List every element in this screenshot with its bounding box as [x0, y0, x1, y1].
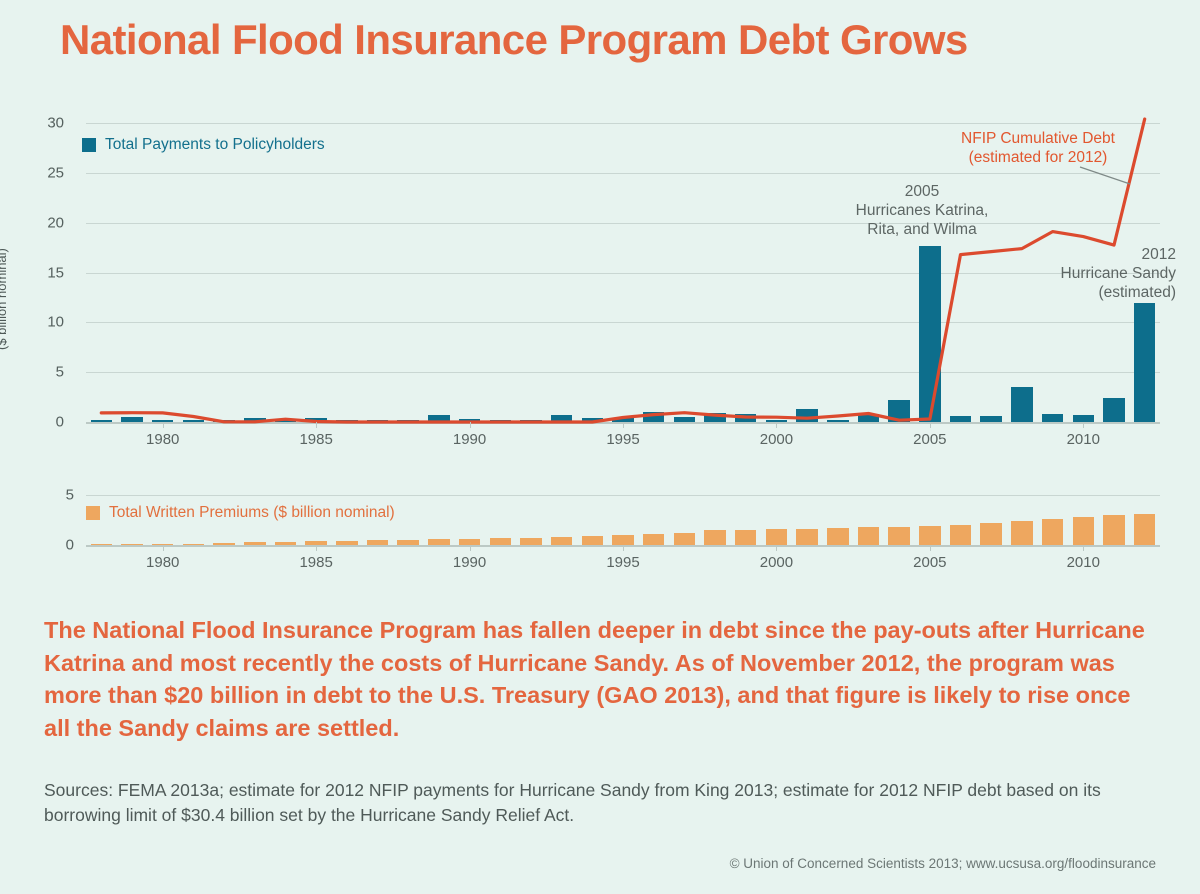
- y-axis-tick: 25: [4, 164, 64, 181]
- x-axis-tick: 2005: [913, 554, 946, 571]
- premium-bar: [643, 534, 664, 545]
- premium-bar: [183, 544, 204, 546]
- x-axis-tickmark: [623, 422, 624, 428]
- premium-bar: [244, 542, 265, 545]
- premium-bar: [796, 529, 817, 545]
- premium-bar: [91, 544, 112, 546]
- x-axis-tick: 1995: [606, 554, 639, 571]
- legend-total-payments: Total Payments to Policyholders: [82, 136, 325, 154]
- legend-swatch-premiums: [86, 506, 100, 520]
- premium-bar: [551, 537, 572, 545]
- premium-bar: [888, 527, 909, 545]
- premium-bar: [367, 540, 388, 545]
- legend-label-premiums: Total Written Premiums ($ billion nomina…: [109, 504, 395, 522]
- summary-paragraph: The National Flood Insurance Program has…: [44, 614, 1154, 745]
- premium-bar: [950, 525, 971, 545]
- x-axis-tickmark: [316, 422, 317, 428]
- legend-written-premiums: Total Written Premiums ($ billion nomina…: [86, 504, 395, 522]
- x-axis-tickmark: [776, 422, 777, 428]
- y-axis-tick: 10: [4, 314, 64, 331]
- x-axis-tickmark: [1083, 545, 1084, 551]
- y-axis-tick: 30: [4, 115, 64, 132]
- x-axis-tick: 2000: [760, 431, 793, 448]
- premium-bar: [520, 538, 541, 545]
- written-premiums-chart: 05 1980198519901995200020052010 Total Wr…: [0, 470, 1200, 580]
- y-axis-tick: 0: [4, 414, 64, 431]
- x-axis-tickmark: [316, 545, 317, 551]
- x-axis-tick: 1995: [606, 431, 639, 448]
- legend-label-payments: Total Payments to Policyholders: [105, 136, 325, 154]
- premium-bar: [612, 535, 633, 545]
- premium-bar: [674, 533, 695, 546]
- premium-bar: [1042, 519, 1063, 545]
- x-axis-tick: 2000: [760, 554, 793, 571]
- main-plot-area: 051015202530 198019851990199520002005201…: [86, 123, 1160, 422]
- x-axis-tickmark: [1083, 422, 1084, 428]
- x-axis-tickmark: [623, 545, 624, 551]
- premium-bar: [490, 538, 511, 545]
- premium-bar: [980, 523, 1001, 545]
- premium-bar: [1134, 514, 1155, 546]
- x-axis-tickmark: [163, 545, 164, 551]
- x-axis-tick: 1985: [299, 431, 332, 448]
- annotation-sandy: 2012 Hurricane Sandy (estimated): [1036, 245, 1176, 302]
- leader-line-icon: [1080, 152, 1150, 192]
- premium-bar: [735, 530, 756, 546]
- y-axis-tick: 15: [4, 264, 64, 281]
- x-axis-tickmark: [776, 545, 777, 551]
- x-axis-tick: 2010: [1067, 431, 1100, 448]
- x-axis-tick: 2005: [913, 431, 946, 448]
- x-axis-tickmark: [930, 422, 931, 428]
- sources-text: Sources: FEMA 2013a; estimate for 2012 N…: [44, 778, 1164, 829]
- x-axis-tick: 1990: [453, 431, 486, 448]
- x-axis-tick: 1980: [146, 554, 179, 571]
- x-axis-tick: 1985: [299, 554, 332, 571]
- premium-bar: [121, 544, 142, 546]
- premium-bar: [275, 542, 296, 545]
- premium-bar: [766, 529, 787, 545]
- x-axis-tickmark: [470, 422, 471, 428]
- page-title: National Flood Insurance Program Debt Gr…: [60, 16, 968, 64]
- premium-bar: [919, 526, 940, 545]
- x-axis-tickmark: [163, 422, 164, 428]
- y-axis-tick: 20: [4, 214, 64, 231]
- x-axis-tickmark: [930, 545, 931, 551]
- infographic-page: National Flood Insurance Program Debt Gr…: [0, 0, 1200, 894]
- premium-bar: [582, 536, 603, 545]
- premium-bar: [336, 541, 357, 545]
- premium-bar: [1073, 517, 1094, 545]
- premium-bar: [1103, 515, 1124, 545]
- premium-bar: [213, 543, 234, 545]
- y-axis-tick: 5: [4, 364, 64, 381]
- y-axis-tick: 5: [14, 487, 74, 504]
- premium-bar: [704, 530, 725, 545]
- nfip-debt-line: [86, 123, 1160, 422]
- annotation-katrina: 2005 Hurricanes Katrina, Rita, and Wilma: [846, 182, 998, 239]
- y-axis-tick: 0: [14, 537, 74, 554]
- gridline: [86, 495, 1160, 496]
- premium-bar: [1011, 521, 1032, 545]
- premium-bar: [858, 527, 879, 545]
- x-axis-tick: 2010: [1067, 554, 1100, 571]
- premium-bar: [428, 539, 449, 545]
- premium-bar: [397, 540, 418, 545]
- legend-swatch-payments: [82, 138, 96, 152]
- x-axis-tick: 1980: [146, 431, 179, 448]
- x-axis-tickmark: [470, 545, 471, 551]
- copyright-text: © Union of Concerned Scientists 2013; ww…: [730, 856, 1156, 871]
- x-axis-tick: 1990: [453, 554, 486, 571]
- premium-bar: [827, 528, 848, 545]
